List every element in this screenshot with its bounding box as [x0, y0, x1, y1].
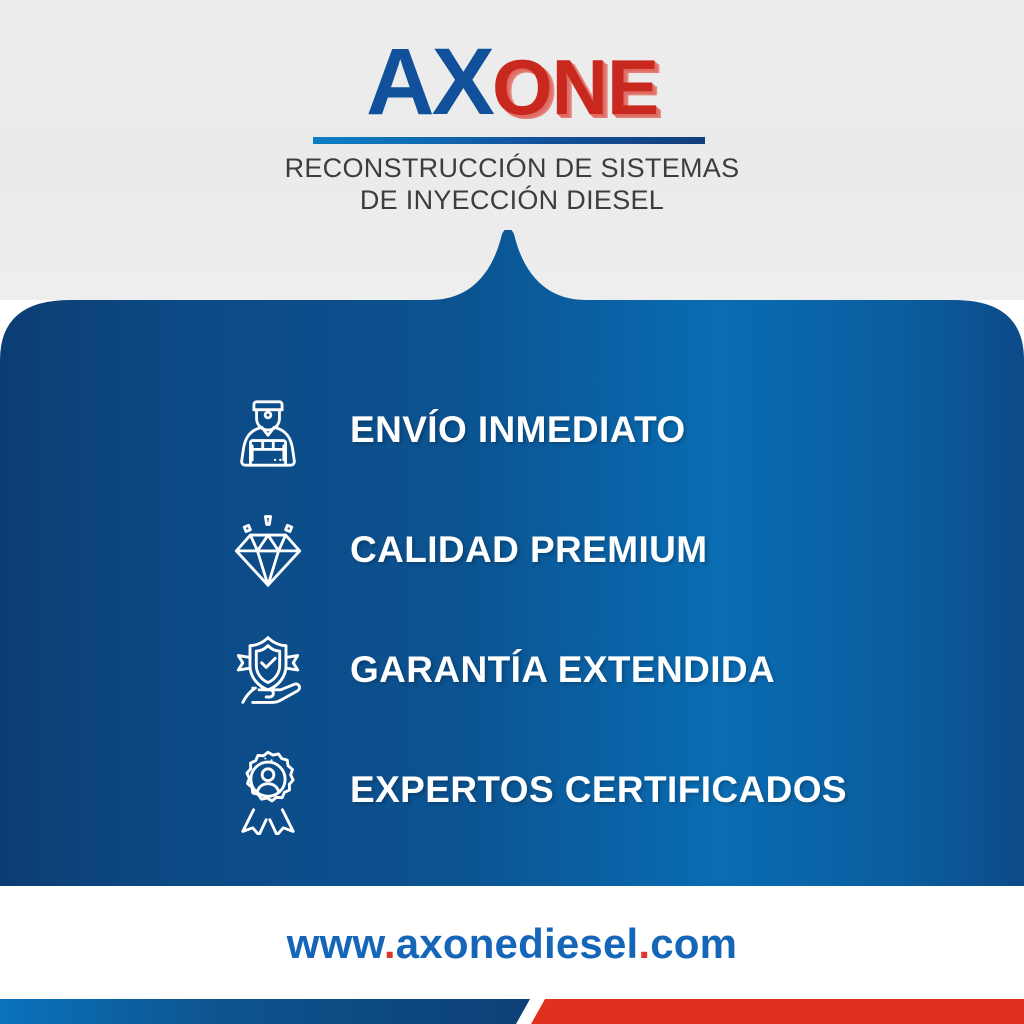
url-dot-2: .: [638, 920, 650, 967]
url-tld: com: [650, 920, 737, 967]
feature-item-calidad-premium[interactable]: CALIDAD PREMIUM: [0, 490, 1024, 610]
feature-item-expertos-certificados[interactable]: EXPERTOS CERTIFICADOS: [0, 730, 1024, 850]
url-domain: axonediesel: [396, 920, 639, 967]
feature-label-expertos-certificados: EXPERTOS CERTIFICADOS: [350, 769, 847, 811]
url-dot-1: .: [384, 920, 396, 967]
delivery-person-box-icon: [222, 384, 314, 476]
feature-item-envio-inmediato[interactable]: ENVÍO INMEDIATO: [0, 370, 1024, 490]
feature-label-envio-inmediato: ENVÍO INMEDIATO: [350, 409, 686, 451]
brand-tagline: RECONSTRUCCIÓN DE SISTEMAS DE INYECCIÓN …: [0, 152, 1024, 216]
website-url[interactable]: www.axonediesel.com: [0, 920, 1024, 968]
tagline-line-2: DE INYECCIÓN DIESEL: [0, 184, 1024, 216]
brand-logo: AXONE: [0, 34, 1024, 135]
feature-label-calidad-premium: CALIDAD PREMIUM: [350, 529, 707, 571]
poster-canvas: AXONE RECONSTRUCCIÓN DE SISTEMAS DE INYE…: [0, 0, 1024, 1024]
logo-text-ax: AX: [366, 29, 492, 135]
tagline-line-1: RECONSTRUCCIÓN DE SISTEMAS: [0, 152, 1024, 184]
bottom-accent-bar-shape: [0, 984, 1024, 1024]
feature-label-garantia-extendida: GARANTÍA EXTENDIDA: [350, 649, 775, 691]
bottom-accent-bar: [0, 984, 1024, 1024]
shield-check-hand-icon: [222, 624, 314, 716]
logo-wordmark: AXONE: [366, 34, 658, 135]
diamond-icon: [222, 504, 314, 596]
feature-item-garantia-extendida[interactable]: GARANTÍA EXTENDIDA: [0, 610, 1024, 730]
logo-text-one: ONE: [492, 43, 658, 131]
url-prefix: www: [287, 920, 384, 967]
feature-list: ENVÍO INMEDIATO: [0, 370, 1024, 850]
logo-underline-rule: [313, 137, 705, 144]
award-badge-person-icon: [222, 744, 314, 836]
